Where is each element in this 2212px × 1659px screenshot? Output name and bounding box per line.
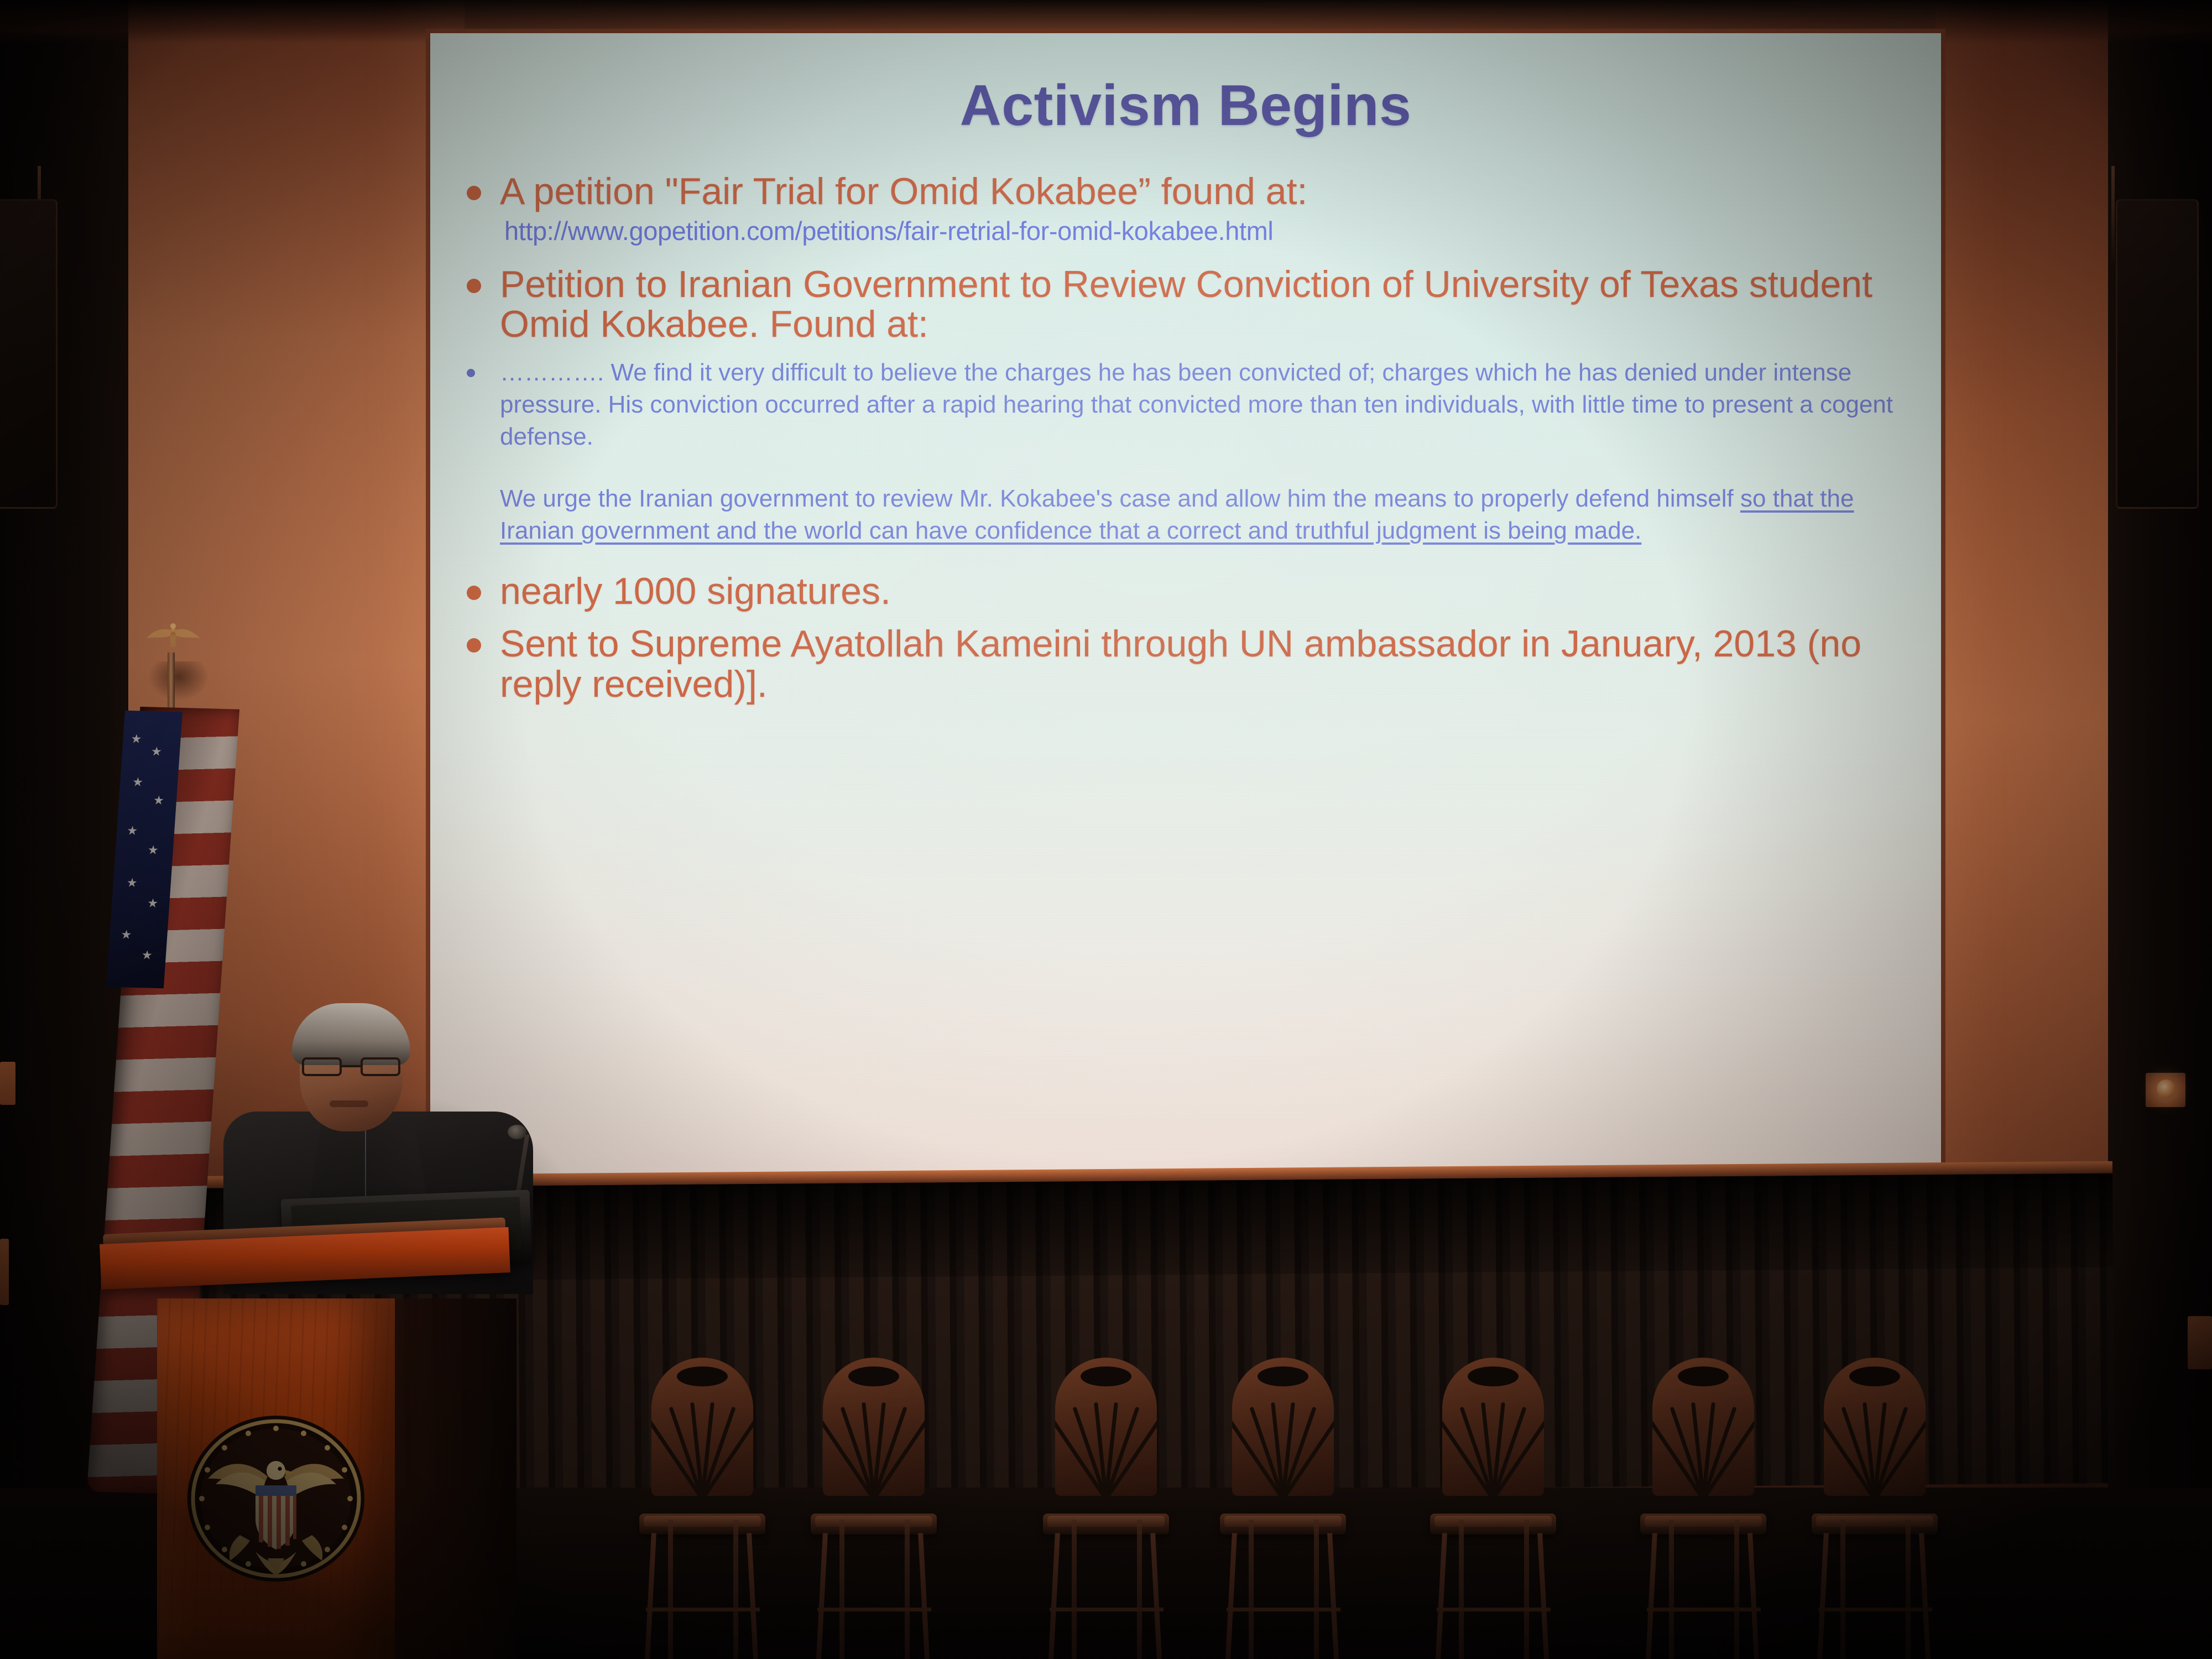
- chair-handle-slot: [848, 1366, 899, 1386]
- chair-back: [1055, 1358, 1157, 1496]
- podium: [100, 1244, 509, 1659]
- quote-paragraph-1-body: We find it very difficult to believe the…: [500, 359, 1893, 450]
- microphone-icon: [508, 1125, 526, 1139]
- slide-bullet-2: Petition to Iranian Government to Review…: [467, 264, 1905, 345]
- chair-stretcher: [1227, 1608, 1340, 1611]
- sub-bullet-dot-icon: [467, 369, 475, 377]
- wall-panel-right-lower: [2188, 1316, 2212, 1369]
- bullet-dot-icon: [467, 638, 481, 653]
- chair-handle-slot: [1258, 1366, 1308, 1386]
- slide-bullet-5: Sent to Supreme Ayatollah Kameini throug…: [467, 624, 1905, 705]
- chair-handle-slot: [1849, 1366, 1900, 1386]
- bullet-dot-icon: [467, 186, 481, 200]
- chair-stretcher: [646, 1608, 760, 1611]
- bullet-4-text: nearly 1000 signatures.: [500, 571, 1905, 612]
- chair-seat-pad: [1816, 1516, 1933, 1527]
- chair-seat-pad: [1434, 1516, 1552, 1527]
- slide-title: Activism Begins: [430, 73, 1941, 139]
- stage-chair: [1427, 1358, 1559, 1659]
- chair-back: [1824, 1358, 1926, 1496]
- petition-quote-paragraph-1: …………. We find it very difficult to belie…: [500, 357, 1905, 453]
- stage-chair: [1040, 1358, 1172, 1659]
- chair-stretcher: [1647, 1608, 1761, 1611]
- presenter-hair: [292, 1003, 410, 1065]
- chair-handle-slot: [677, 1366, 728, 1386]
- wall-warm-right: [1936, 0, 2112, 1200]
- chair-seat-pad: [1047, 1516, 1165, 1527]
- petition-quote-paragraph-2: We urge the Iranian government to review…: [500, 483, 1905, 547]
- stage-chair: [1808, 1358, 1941, 1659]
- wall-speaker-left: [0, 199, 58, 509]
- wall-panel-left-lower: [0, 1239, 9, 1305]
- chair-back: [1652, 1358, 1754, 1496]
- chair-handle-slot: [1678, 1366, 1729, 1386]
- chair-stretcher: [1437, 1608, 1551, 1611]
- quote-paragraph-2-plain: We urge the Iranian government to review…: [500, 485, 1740, 512]
- chair-seat-pad: [1224, 1516, 1342, 1527]
- glasses-icon: [302, 1057, 400, 1076]
- quote-leader-dots: ………….: [500, 359, 611, 386]
- chair-stretcher: [817, 1608, 931, 1611]
- slide-bullet-3: …………. We find it very difficult to belie…: [467, 357, 1905, 547]
- stage-chair: [807, 1358, 940, 1659]
- slide-bullet-1: A petition "Fair Trial for Omid Kokabee”…: [467, 171, 1905, 248]
- bullet-2-text: Petition to Iranian Government to Review…: [500, 264, 1905, 345]
- podium-shadow-side: [395, 1298, 517, 1659]
- stage-chair: [1217, 1358, 1349, 1659]
- lecture-hall-photo: Activism Begins A petition "Fair Trial f…: [0, 0, 2212, 1659]
- chair-seat-pad: [815, 1516, 932, 1527]
- chair-handle-slot: [1081, 1366, 1131, 1386]
- speaker-cable-right: [2111, 166, 2115, 265]
- chair-back: [1442, 1358, 1544, 1496]
- wall-sconce-icon: [2157, 1079, 2176, 1098]
- stage-chair: [636, 1358, 769, 1659]
- chair-stretcher: [1818, 1608, 1932, 1611]
- bullet-5-text: Sent to Supreme Ayatollah Kameini throug…: [500, 624, 1905, 705]
- chair-back: [823, 1358, 925, 1496]
- stage-chair: [1637, 1358, 1770, 1659]
- projection-screen: Activism Begins A petition "Fair Trial f…: [430, 33, 1941, 1185]
- wall-panel-left-upper: [0, 1062, 15, 1105]
- wall-speaker-right: [2116, 199, 2199, 509]
- chair-back: [1232, 1358, 1334, 1496]
- chair-back: [651, 1358, 753, 1496]
- chair-stretcher: [1050, 1608, 1164, 1611]
- finial-shadow: [149, 661, 208, 700]
- chair-seat-pad: [644, 1516, 761, 1527]
- petition-link[interactable]: http://www.gopetition.com/petitions/fair…: [504, 215, 1905, 248]
- bullet-dot-icon: [467, 279, 481, 293]
- slide-body: A petition "Fair Trial for Omid Kokabee”…: [467, 171, 1905, 705]
- chair-seat-pad: [1645, 1516, 1762, 1527]
- presenter-mouth: [330, 1100, 368, 1107]
- bullet-1-text: A petition "Fair Trial for Omid Kokabee”…: [500, 171, 1905, 212]
- great-seal-icon: [185, 1410, 367, 1587]
- bullet-dot-icon: [467, 586, 481, 600]
- chair-handle-slot: [1468, 1366, 1519, 1386]
- slide-bullet-4: nearly 1000 signatures.: [467, 571, 1905, 612]
